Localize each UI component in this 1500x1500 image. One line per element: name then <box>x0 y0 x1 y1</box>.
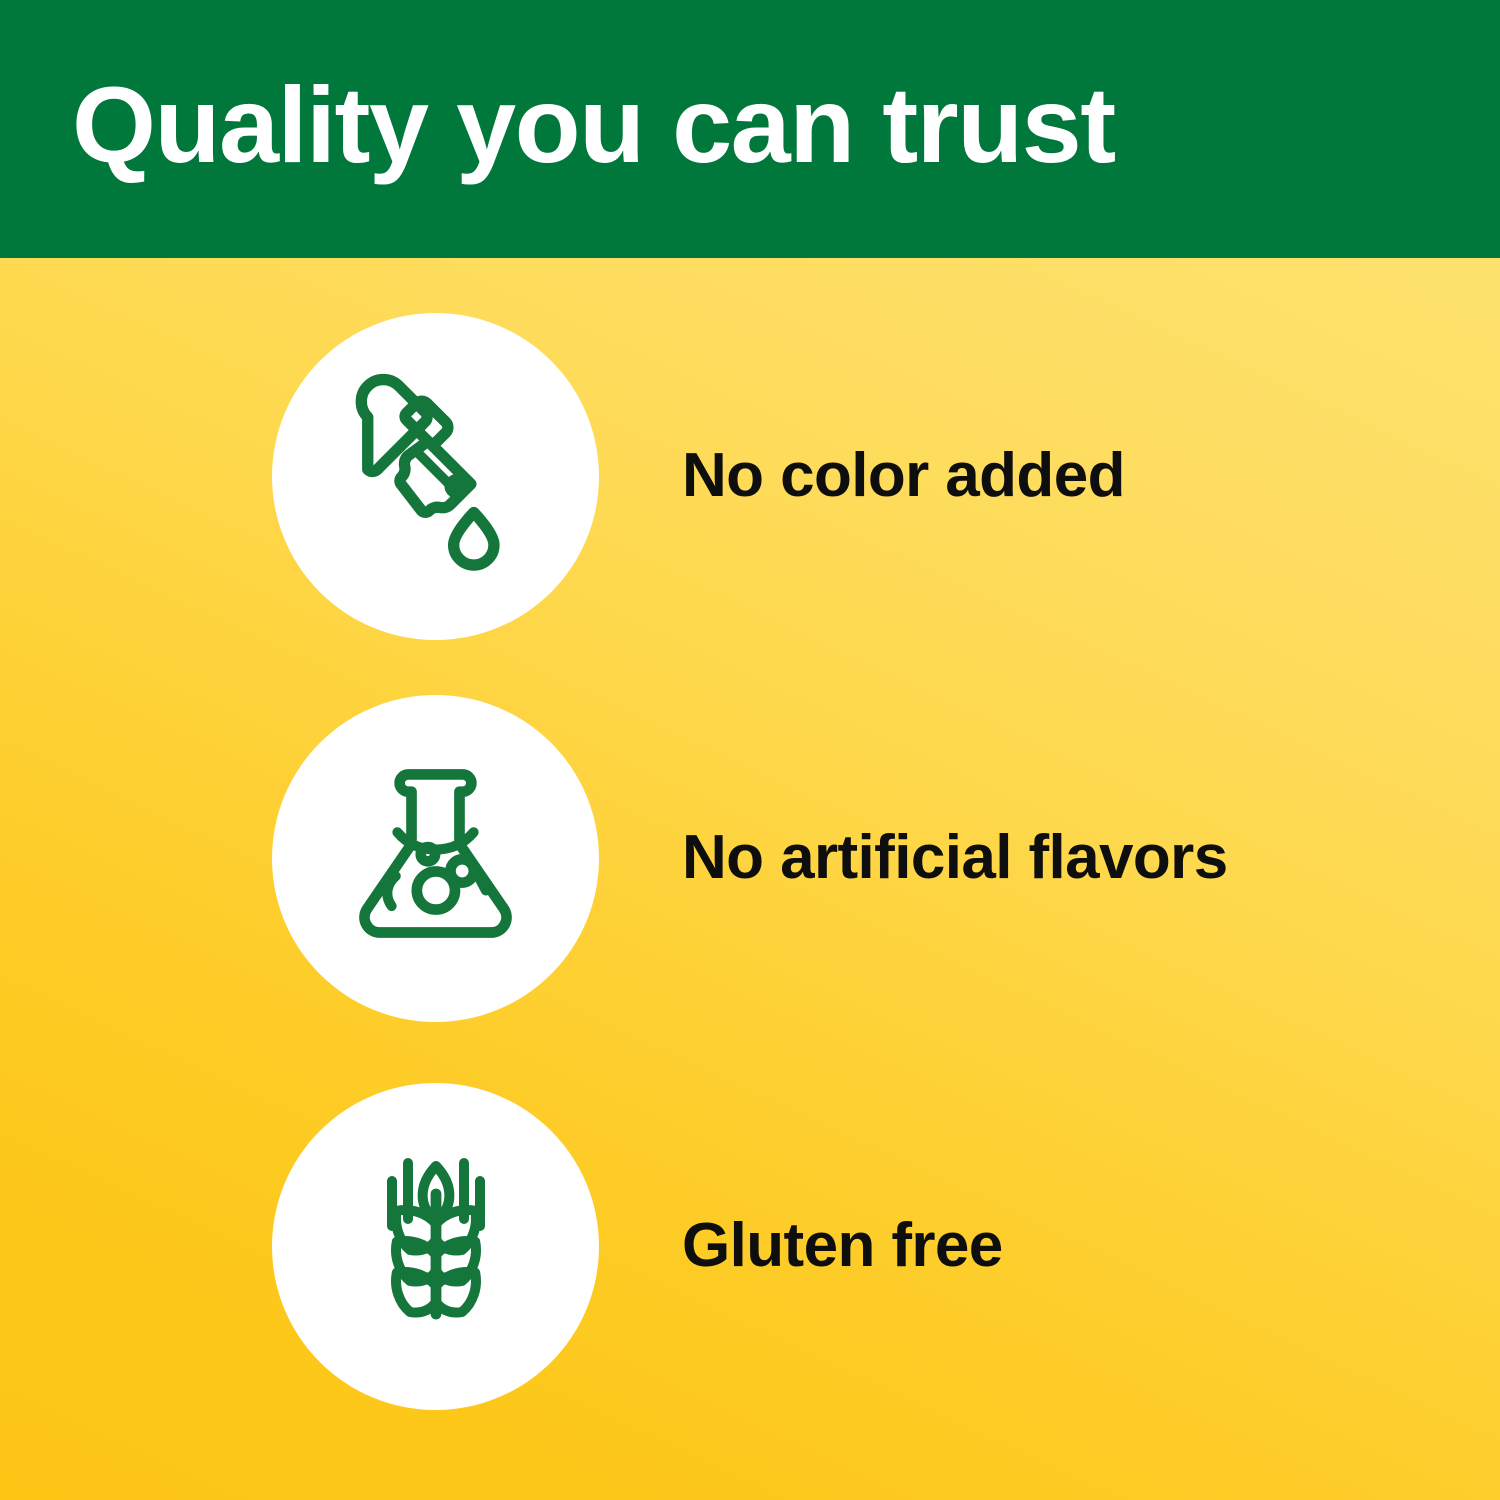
header-banner: Quality you can trust <box>0 0 1500 258</box>
wheat-icon <box>336 1146 536 1346</box>
icon-badge <box>272 1083 599 1410</box>
feature-label: Gluten free <box>682 1213 1003 1278</box>
icon-badge <box>272 695 599 1022</box>
quality-badges-poster: Quality you can trust <box>0 0 1500 1500</box>
page-title: Quality you can trust <box>72 71 1115 179</box>
icon-badge <box>272 313 599 640</box>
feature-list: No color added <box>0 258 1500 1500</box>
feature-row: No artificial flavors <box>0 688 1500 1028</box>
feature-label: No color added <box>682 443 1125 508</box>
dropper-icon <box>331 371 541 581</box>
feature-label: No artificial flavors <box>682 825 1228 890</box>
flask-icon <box>333 756 538 961</box>
feature-row: Gluten free <box>0 1076 1500 1416</box>
feature-row: No color added <box>0 306 1500 646</box>
